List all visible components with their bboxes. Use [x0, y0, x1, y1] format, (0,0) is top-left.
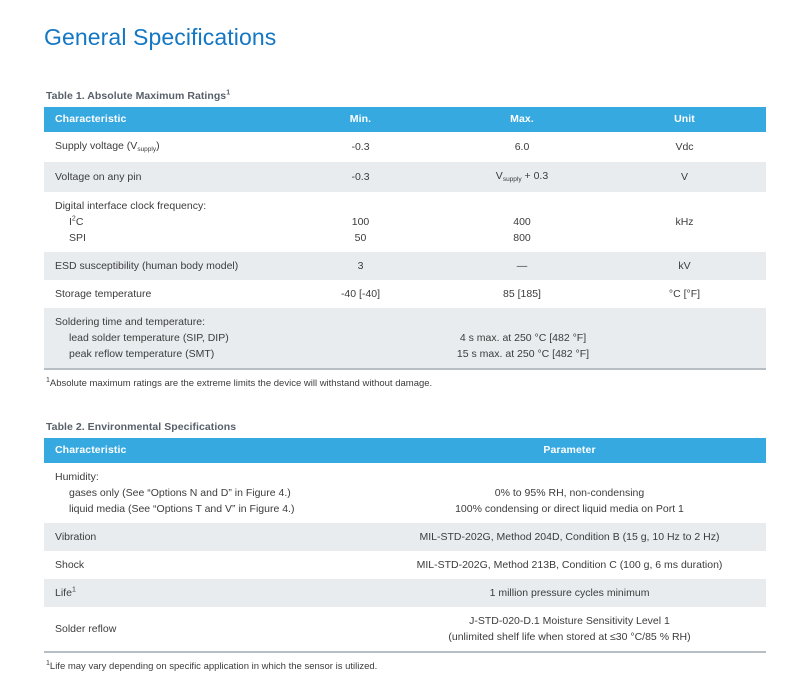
table1-footnote-text: Absolute maximum ratings are the extreme…	[50, 378, 432, 389]
table1-r2-char-title: Digital interface clock frequency:	[55, 198, 280, 214]
table1-r0-char-tail: )	[156, 140, 160, 152]
table1-r2-min-0: 100	[280, 214, 441, 230]
table-row: Vibration MIL-STD-202G, Method 204D, Con…	[44, 523, 766, 551]
table1-r5-sub-0: lead solder temperature (SIP, DIP)	[55, 330, 280, 346]
table2-header-row: Characteristic Parameter	[44, 438, 766, 463]
table1-header-row: Characteristic Min. Max. Unit	[44, 107, 766, 132]
table-row: Voltage on any pin -0.3 Vsupply + 0.3 V	[44, 162, 766, 192]
table2-r2-parameter: MIL-STD-202G, Method 213B, Condition C (…	[373, 551, 766, 579]
table1-r1-max-sub: supply	[503, 176, 522, 183]
table2-block: Table 2. Environmental Specifications Ch…	[44, 391, 767, 674]
table2-r0-sub-1: liquid media (See “Options T and V” in F…	[55, 501, 373, 517]
table1-caption-text: Table 1. Absolute Maximum Ratings	[46, 90, 226, 102]
table2-r1-parameter: MIL-STD-202G, Method 204D, Condition B (…	[373, 523, 766, 551]
environmental-specifications-table: Characteristic Parameter Humidity: gases…	[44, 438, 766, 653]
table1-r2-sub-1: SPI	[55, 230, 280, 246]
table2-r3-char-sup: 1	[72, 587, 76, 594]
table1-r2-min: . 100 50	[280, 192, 441, 252]
table1-r0-max: 6.0	[441, 132, 603, 162]
table2-r4-param-1: (unlimited shelf life when stored at ≤30…	[373, 629, 766, 645]
table-row: Humidity: gases only (See “Options N and…	[44, 463, 766, 523]
table1-r3-max: —	[441, 252, 603, 280]
table2-r1-characteristic: Vibration	[44, 523, 373, 551]
table-row: Solder reflow J-STD-020-D.1 Moisture Sen…	[44, 607, 766, 652]
table-row: Soldering time and temperature: lead sol…	[44, 308, 766, 369]
table1-r2-max-1: 800	[441, 230, 603, 246]
table1-r5-sub-1: peak reflow temperature (SMT)	[55, 346, 280, 362]
table1-r2-min-1: 50	[280, 230, 441, 246]
table1-r0-char-text: Supply voltage (V	[55, 140, 137, 152]
table2-header-characteristic: Characteristic	[44, 438, 373, 463]
table2-r0-param-0: 0% to 95% RH, non-condensing	[373, 485, 766, 501]
table1-r5-merged-1: 15 s max. at 250 °C [482 °F]	[280, 346, 766, 362]
table1-r1-max-prefix: V	[496, 170, 503, 182]
table1-r2-unit: kHz	[603, 192, 766, 252]
table2-r0-characteristic: Humidity: gases only (See “Options N and…	[44, 463, 373, 523]
table1-r1-min: -0.3	[280, 162, 441, 192]
table2-r0-char-title: Humidity:	[55, 469, 373, 485]
table1-r5-characteristic: Soldering time and temperature: lead sol…	[44, 308, 280, 369]
table1-r2-max: . 400 800	[441, 192, 603, 252]
table1-footnote: 1Absolute maximum ratings are the extrem…	[44, 370, 767, 391]
absolute-maximum-ratings-table: Characteristic Min. Max. Unit Supply vol…	[44, 107, 766, 370]
table2-r4-param-0: J-STD-020-D.1 Moisture Sensitivity Level…	[373, 613, 766, 629]
table2-r3-characteristic: Life1	[44, 579, 373, 607]
table1-r5-merged-0: 4 s max. at 250 °C [482 °F]	[280, 330, 766, 346]
table2-caption: Table 2. Environmental Specifications	[44, 421, 767, 438]
page-title: General Specifications	[44, 0, 767, 52]
table2-r0-parameter: . 0% to 95% RH, non-condensing 100% cond…	[373, 463, 766, 523]
table1-r0-char-sub: supply	[137, 146, 156, 153]
table1-r2-characteristic: Digital interface clock frequency: I2C S…	[44, 192, 280, 252]
table1-header-min: Min.	[280, 107, 441, 132]
table1-r1-characteristic: Voltage on any pin	[44, 162, 280, 192]
table2-r0-sub-0: gases only (See “Options N and D” in Fig…	[55, 485, 373, 501]
table1-body: Supply voltage (Vsupply) -0.3 6.0 Vdc Vo…	[44, 132, 766, 369]
table1-r0-min: -0.3	[280, 132, 441, 162]
table1-r5-merged-value: . 4 s max. at 250 °C [482 °F] 15 s max. …	[280, 308, 766, 369]
table1-r4-max: 85 [185]	[441, 280, 603, 308]
table-row: Supply voltage (Vsupply) -0.3 6.0 Vdc	[44, 132, 766, 162]
table2-r4-parameter: J-STD-020-D.1 Moisture Sensitivity Level…	[373, 607, 766, 652]
table-row: Storage temperature -40 [-40] 85 [185] °…	[44, 280, 766, 308]
table2-footnote: 1Life may vary depending on specific app…	[44, 653, 767, 674]
table1-r1-unit: V	[603, 162, 766, 192]
table1-r2-sub-0: I2C	[55, 214, 280, 230]
table2-r2-characteristic: Shock	[44, 551, 373, 579]
table1-r1-max-tail: + 0.3	[522, 170, 549, 182]
table1-header-characteristic: Characteristic	[44, 107, 280, 132]
table1-r0-characteristic: Supply voltage (Vsupply)	[44, 132, 280, 162]
table1-r3-min: 3	[280, 252, 441, 280]
table1-block: Table 1. Absolute Maximum Ratings1 Chara…	[44, 52, 767, 391]
table2-head: Characteristic Parameter	[44, 438, 766, 463]
table2-r4-characteristic: Solder reflow	[44, 607, 373, 652]
table1-r2-max-0: 400	[441, 214, 603, 230]
table-row: Shock MIL-STD-202G, Method 213B, Conditi…	[44, 551, 766, 579]
table1-r4-unit: °C [°F]	[603, 280, 766, 308]
table-row: Life1 1 million pressure cycles minimum	[44, 579, 766, 607]
table1-header-max: Max.	[441, 107, 603, 132]
table2-header-parameter: Parameter	[373, 438, 766, 463]
table1-header-unit: Unit	[603, 107, 766, 132]
table1-caption-footnote-marker: 1	[226, 90, 230, 97]
i2c-superscript: 2	[72, 216, 76, 223]
table1-head: Characteristic Min. Max. Unit	[44, 107, 766, 132]
table1-r4-min: -40 [-40]	[280, 280, 441, 308]
table1-r0-unit: Vdc	[603, 132, 766, 162]
table-row: ESD susceptibility (human body model) 3 …	[44, 252, 766, 280]
document-page: General Specifications Table 1. Absolute…	[0, 0, 811, 638]
table1-r3-unit: kV	[603, 252, 766, 280]
table2-r3-parameter: 1 million pressure cycles minimum	[373, 579, 766, 607]
table2-footnote-text: Life may vary depending on specific appl…	[50, 661, 377, 672]
table1-r4-characteristic: Storage temperature	[44, 280, 280, 308]
table-row: Digital interface clock frequency: I2C S…	[44, 192, 766, 252]
table1-caption: Table 1. Absolute Maximum Ratings1	[44, 90, 767, 107]
table1-r3-characteristic: ESD susceptibility (human body model)	[44, 252, 280, 280]
table2-body: Humidity: gases only (See “Options N and…	[44, 463, 766, 652]
table2-r3-char-text: Life	[55, 587, 72, 599]
table1-r1-max: Vsupply + 0.3	[441, 162, 603, 192]
table1-r5-char-title: Soldering time and temperature:	[55, 314, 280, 330]
table2-r0-param-1: 100% condensing or direct liquid media o…	[373, 501, 766, 517]
